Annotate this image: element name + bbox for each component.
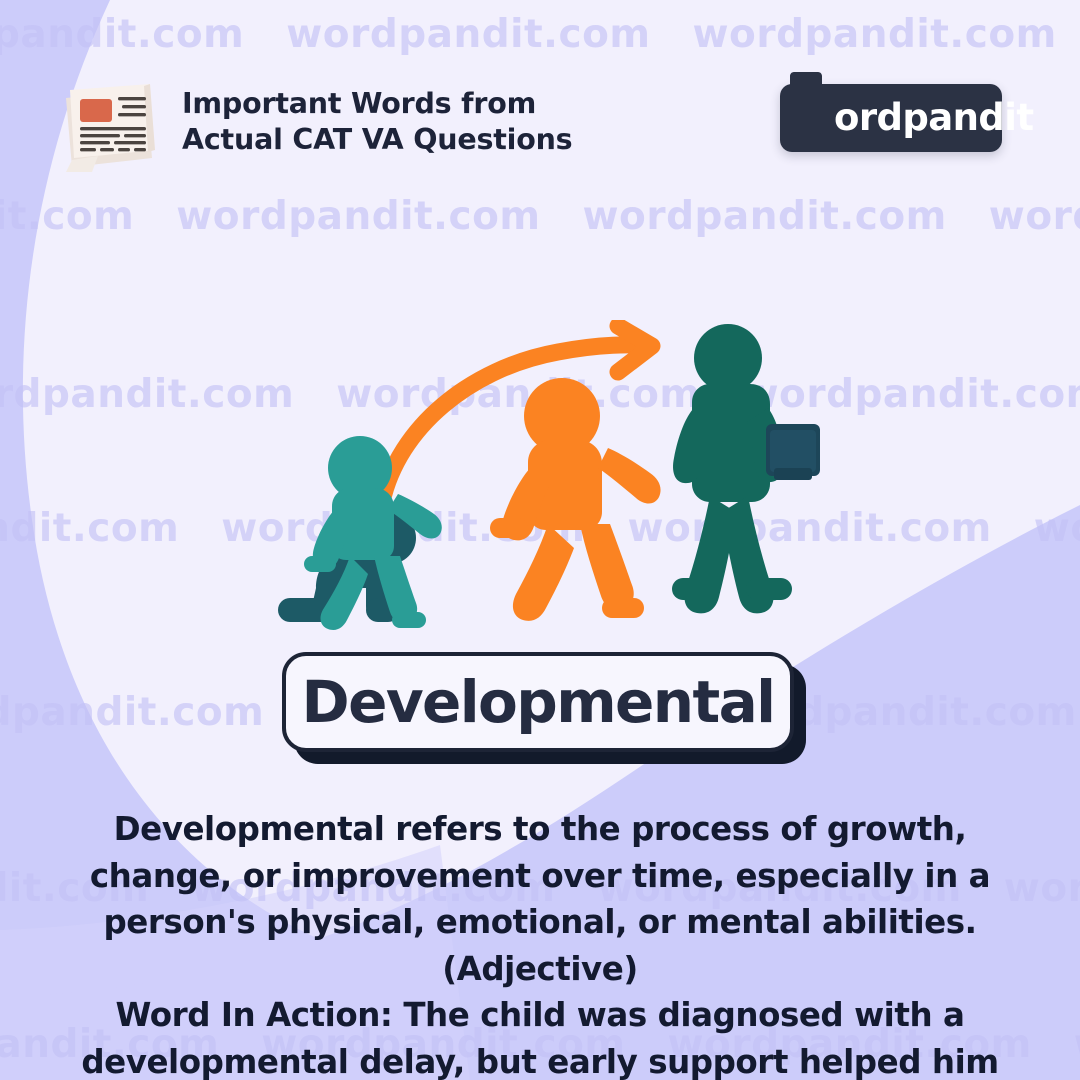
- definition-meaning: Developmental refers to the process of g…: [40, 806, 1040, 992]
- definition-usage: Word In Action: The child was diagnosed …: [40, 992, 1040, 1080]
- wordpandit-logo-text: ordpandit: [834, 84, 1033, 152]
- definition-block: Developmental refers to the process of g…: [40, 806, 1040, 1080]
- word-badge-surface: Developmental: [282, 652, 794, 752]
- wordpandit-logo[interactable]: ordpandit: [780, 84, 1002, 152]
- word-term: Developmental: [302, 673, 775, 731]
- adult-with-briefcase-figure: [672, 324, 820, 613]
- bookmark-icon: [786, 72, 826, 140]
- briefcase-icon: [766, 424, 820, 480]
- human-growth-stages-illustration: [270, 320, 830, 640]
- word-badge: Developmental: [282, 652, 806, 764]
- header: Important Words from Actual CAT VA Quest…: [0, 0, 1080, 200]
- word-card: wordpandit.comwordpandit.comwordpandit.c…: [0, 0, 1080, 1080]
- header-title-group: Important Words from Actual CAT VA Quest…: [52, 72, 572, 172]
- walking-youth-figure: [490, 378, 661, 621]
- newspaper-icon: [52, 72, 168, 172]
- header-title: Important Words from Actual CAT VA Quest…: [182, 86, 572, 158]
